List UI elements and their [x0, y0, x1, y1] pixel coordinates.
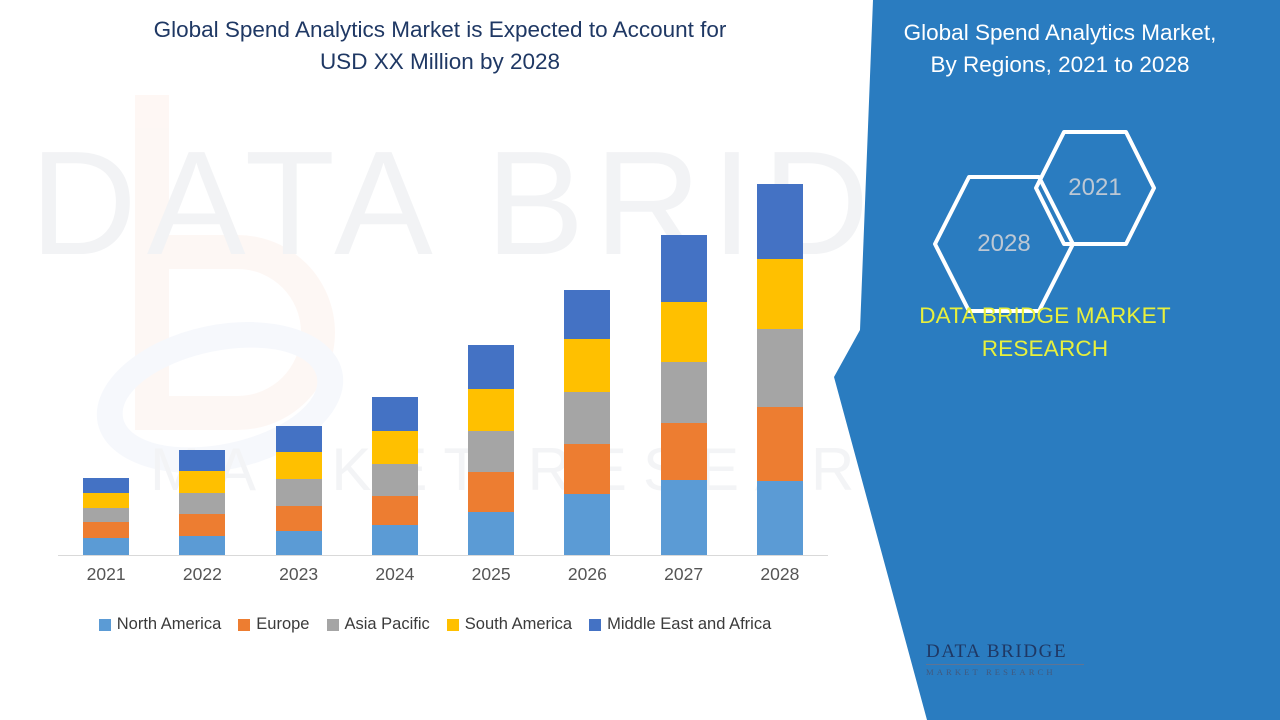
- bar-segment: [564, 392, 610, 444]
- logo-divider: [926, 664, 1084, 665]
- bar-segment: [179, 514, 225, 536]
- legend-label: Middle East and Africa: [607, 615, 771, 634]
- legend-swatch-icon: [327, 619, 339, 631]
- x-axis-tick-label: 2024: [349, 564, 441, 585]
- bar-segment: [83, 522, 129, 538]
- hexagon-2028: 2028: [930, 173, 1078, 315]
- bar-segment: [276, 506, 322, 531]
- bar-segment: [372, 525, 418, 555]
- x-axis-tick-label: 2021: [60, 564, 152, 585]
- bar-segment: [661, 362, 707, 423]
- stacked-bar-chart: 20212022202320242025202620272028: [0, 120, 840, 560]
- bar-segment: [564, 494, 610, 555]
- bar-segment: [276, 531, 322, 555]
- bar-segment: [564, 290, 610, 339]
- legend-item[interactable]: Europe: [238, 615, 309, 634]
- bar-column: [638, 235, 730, 555]
- bar-segment: [372, 496, 418, 525]
- hexagon-2028-label: 2028: [977, 230, 1030, 258]
- logo-name-line-2: MARKET RESEARCH: [926, 668, 1086, 677]
- legend-swatch-icon: [238, 619, 250, 631]
- bar-segment: [468, 389, 514, 431]
- bar-segment: [661, 235, 707, 302]
- page-title-line-2: USD XX Million by 2028: [60, 46, 820, 78]
- bar-segment: [468, 431, 514, 472]
- brand-name-line-1: DATA BRIDGE MARKET: [845, 300, 1245, 333]
- legend-item[interactable]: Asia Pacific: [327, 615, 430, 634]
- bar-segment: [468, 512, 514, 555]
- chart-legend: North AmericaEuropeAsia PacificSouth Ame…: [40, 615, 830, 634]
- bar-segment: [468, 472, 514, 512]
- bar-segment: [83, 538, 129, 555]
- bar-group: [58, 120, 828, 555]
- bar-segment: [276, 426, 322, 452]
- brand-name: DATA BRIDGE MARKET RESEARCH: [845, 300, 1245, 365]
- legend-label: South America: [465, 615, 572, 634]
- bar-segment: [83, 508, 129, 522]
- bar-column: [734, 184, 826, 555]
- x-axis-tick-label: 2026: [541, 564, 633, 585]
- bar-segment: [468, 345, 514, 389]
- bar-column: [445, 345, 537, 555]
- page-title: Global Spend Analytics Market is Expecte…: [60, 14, 820, 78]
- bar-segment: [372, 431, 418, 464]
- bar-segment: [276, 452, 322, 479]
- bar-column: [156, 450, 248, 555]
- bar-segment: [372, 464, 418, 496]
- bar-column: [253, 426, 345, 555]
- x-axis-line: [58, 555, 828, 556]
- legend-label: Europe: [256, 615, 309, 634]
- legend-label: Asia Pacific: [345, 615, 430, 634]
- legend-item[interactable]: North America: [99, 615, 222, 634]
- x-axis-tick-label: 2025: [445, 564, 537, 585]
- chart-plot-area: [58, 120, 828, 556]
- bar-segment: [179, 536, 225, 555]
- bar-column: [60, 478, 152, 555]
- page-title-line-1: Global Spend Analytics Market is Expecte…: [60, 14, 820, 46]
- bar-segment: [564, 339, 610, 392]
- bar-column: [541, 290, 633, 555]
- x-axis-tick-label: 2022: [156, 564, 248, 585]
- bar-segment: [757, 329, 803, 407]
- panel-title: Global Spend Analytics Market, By Region…: [860, 17, 1260, 81]
- legend-item[interactable]: South America: [447, 615, 572, 634]
- legend-swatch-icon: [99, 619, 111, 631]
- hexagon-group: 2021 2028: [900, 120, 1230, 300]
- bar-segment: [757, 259, 803, 329]
- brand-logo: DATA BRIDGE MARKET RESEARCH: [850, 628, 1090, 698]
- bar-segment: [661, 423, 707, 480]
- brand-name-line-2: RESEARCH: [845, 333, 1245, 366]
- x-axis-tick-label: 2023: [253, 564, 345, 585]
- bar-segment: [661, 480, 707, 555]
- logo-name-line-1: DATA BRIDGE: [926, 642, 1086, 661]
- bar-segment: [179, 450, 225, 471]
- bar-segment: [661, 302, 707, 362]
- bar-segment: [83, 493, 129, 508]
- bar-segment: [372, 397, 418, 431]
- panel-title-line-1: Global Spend Analytics Market,: [860, 17, 1260, 49]
- x-axis-tick-label: 2028: [734, 564, 826, 585]
- bar-segment: [276, 479, 322, 506]
- legend-swatch-icon: [447, 619, 459, 631]
- x-axis-tick-label: 2027: [638, 564, 730, 585]
- bar-segment: [757, 481, 803, 555]
- right-info-panel: Global Spend Analytics Market, By Region…: [800, 0, 1280, 720]
- bar-segment: [83, 478, 129, 493]
- legend-label: North America: [117, 615, 222, 634]
- legend-swatch-icon: [589, 619, 601, 631]
- bar-segment: [179, 471, 225, 493]
- bar-segment: [757, 184, 803, 259]
- data-bridge-logo-icon: [850, 628, 916, 694]
- bar-segment: [564, 444, 610, 494]
- bar-segment: [757, 407, 803, 481]
- bar-column: [349, 397, 441, 555]
- bar-segment: [179, 493, 225, 514]
- legend-item[interactable]: Middle East and Africa: [589, 615, 771, 634]
- panel-title-line-2: By Regions, 2021 to 2028: [860, 49, 1260, 81]
- logo-wordmark: DATA BRIDGE MARKET RESEARCH: [926, 642, 1086, 677]
- x-axis-tick-labels: 20212022202320242025202620272028: [58, 564, 828, 585]
- slide-canvas: DATA BRIDGE MARKET RESEARCH Global Spend…: [0, 0, 1280, 720]
